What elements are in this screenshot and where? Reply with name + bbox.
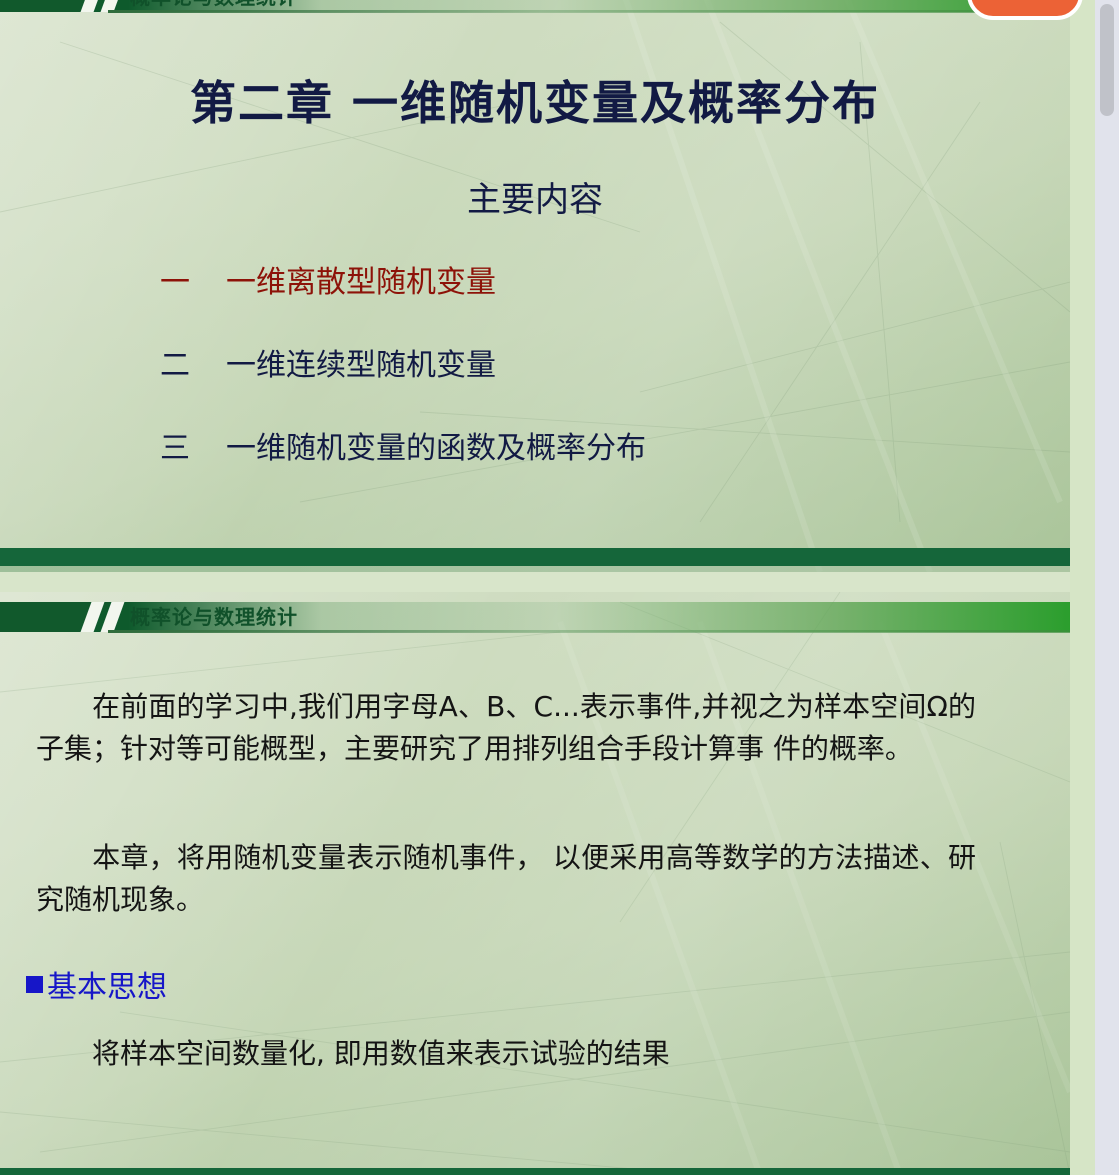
- presentation-viewport: 概率论与数理统计 第二章 一维随机变量及概率分布 主要内容 一 一维离散型随机变…: [0, 0, 1119, 1175]
- slide-one-footer-bar: [0, 548, 1070, 566]
- intro-paragraph-2-text: 本章，将用随机变量表示随机事件， 以便采用高等数学的方法描述、研究随机现象。: [36, 841, 976, 916]
- chapter-subtitle: 主要内容: [0, 172, 1070, 221]
- orange-tab-button[interactable]: [967, 0, 1083, 20]
- outline-item-3-number: 三: [160, 423, 226, 467]
- outline-item-3-label: 一维随机变量的函数及概率分布: [226, 423, 646, 467]
- basic-idea-heading: 基本思想: [26, 962, 167, 1006]
- slide-separator: [0, 572, 1070, 592]
- scrollbar-thumb[interactable]: [1100, 4, 1114, 116]
- slide-one-header-ribbon: 概率论与数理统计: [0, 0, 1070, 12]
- slide-two-header-ribbon: 概率论与数理统计: [0, 602, 1070, 632]
- ribbon-underline: [108, 630, 1070, 633]
- slide-one-header-title: 概率论与数理统计: [130, 0, 298, 9]
- vertical-scrollbar[interactable]: [1095, 0, 1119, 1175]
- slide-introduction[interactable]: 概率论与数理统计 在前面的学习中,我们用字母A、B、C...表示事件,并视之为样…: [0, 592, 1070, 1175]
- intro-paragraph-2: 本章，将用随机变量表示随机事件， 以便采用高等数学的方法描述、研究随机现象。: [36, 837, 976, 921]
- outline-list: 一 一维离散型随机变量 二 一维连续型随机变量 三 一维随机变量的函数及概率分布: [160, 257, 1020, 506]
- outline-item-1[interactable]: 一 一维离散型随机变量: [160, 257, 1020, 301]
- basic-idea-heading-label: 基本思想: [47, 962, 167, 1006]
- outline-item-2-label: 一维连续型随机变量: [226, 340, 496, 384]
- outline-item-2-number: 二: [160, 340, 226, 384]
- chapter-title: 第二章 一维随机变量及概率分布: [0, 67, 1070, 133]
- intro-paragraph-1-text: 在前面的学习中,我们用字母A、B、C...表示事件,并视之为样本空间Ω的子集；针…: [36, 690, 976, 765]
- slide-two-footer-bar: [0, 1168, 1070, 1175]
- outline-item-1-number: 一: [160, 257, 226, 301]
- basic-idea-description: 将样本空间数量化, 即用数值来表示试验的结果: [92, 1032, 670, 1072]
- intro-paragraph-1: 在前面的学习中,我们用字母A、B、C...表示事件,并视之为样本空间Ω的子集；针…: [36, 686, 976, 770]
- ribbon-underline: [108, 10, 1070, 13]
- outline-item-2[interactable]: 二 一维连续型随机变量: [160, 340, 1020, 384]
- slide-chapter-title[interactable]: 概率论与数理统计 第二章 一维随机变量及概率分布 主要内容 一 一维离散型随机变…: [0, 0, 1070, 572]
- square-bullet-icon: [26, 976, 43, 993]
- slide-two-header-title: 概率论与数理统计: [130, 605, 298, 629]
- outline-item-3[interactable]: 三 一维随机变量的函数及概率分布: [160, 423, 1020, 467]
- outline-item-1-label: 一维离散型随机变量: [226, 257, 496, 301]
